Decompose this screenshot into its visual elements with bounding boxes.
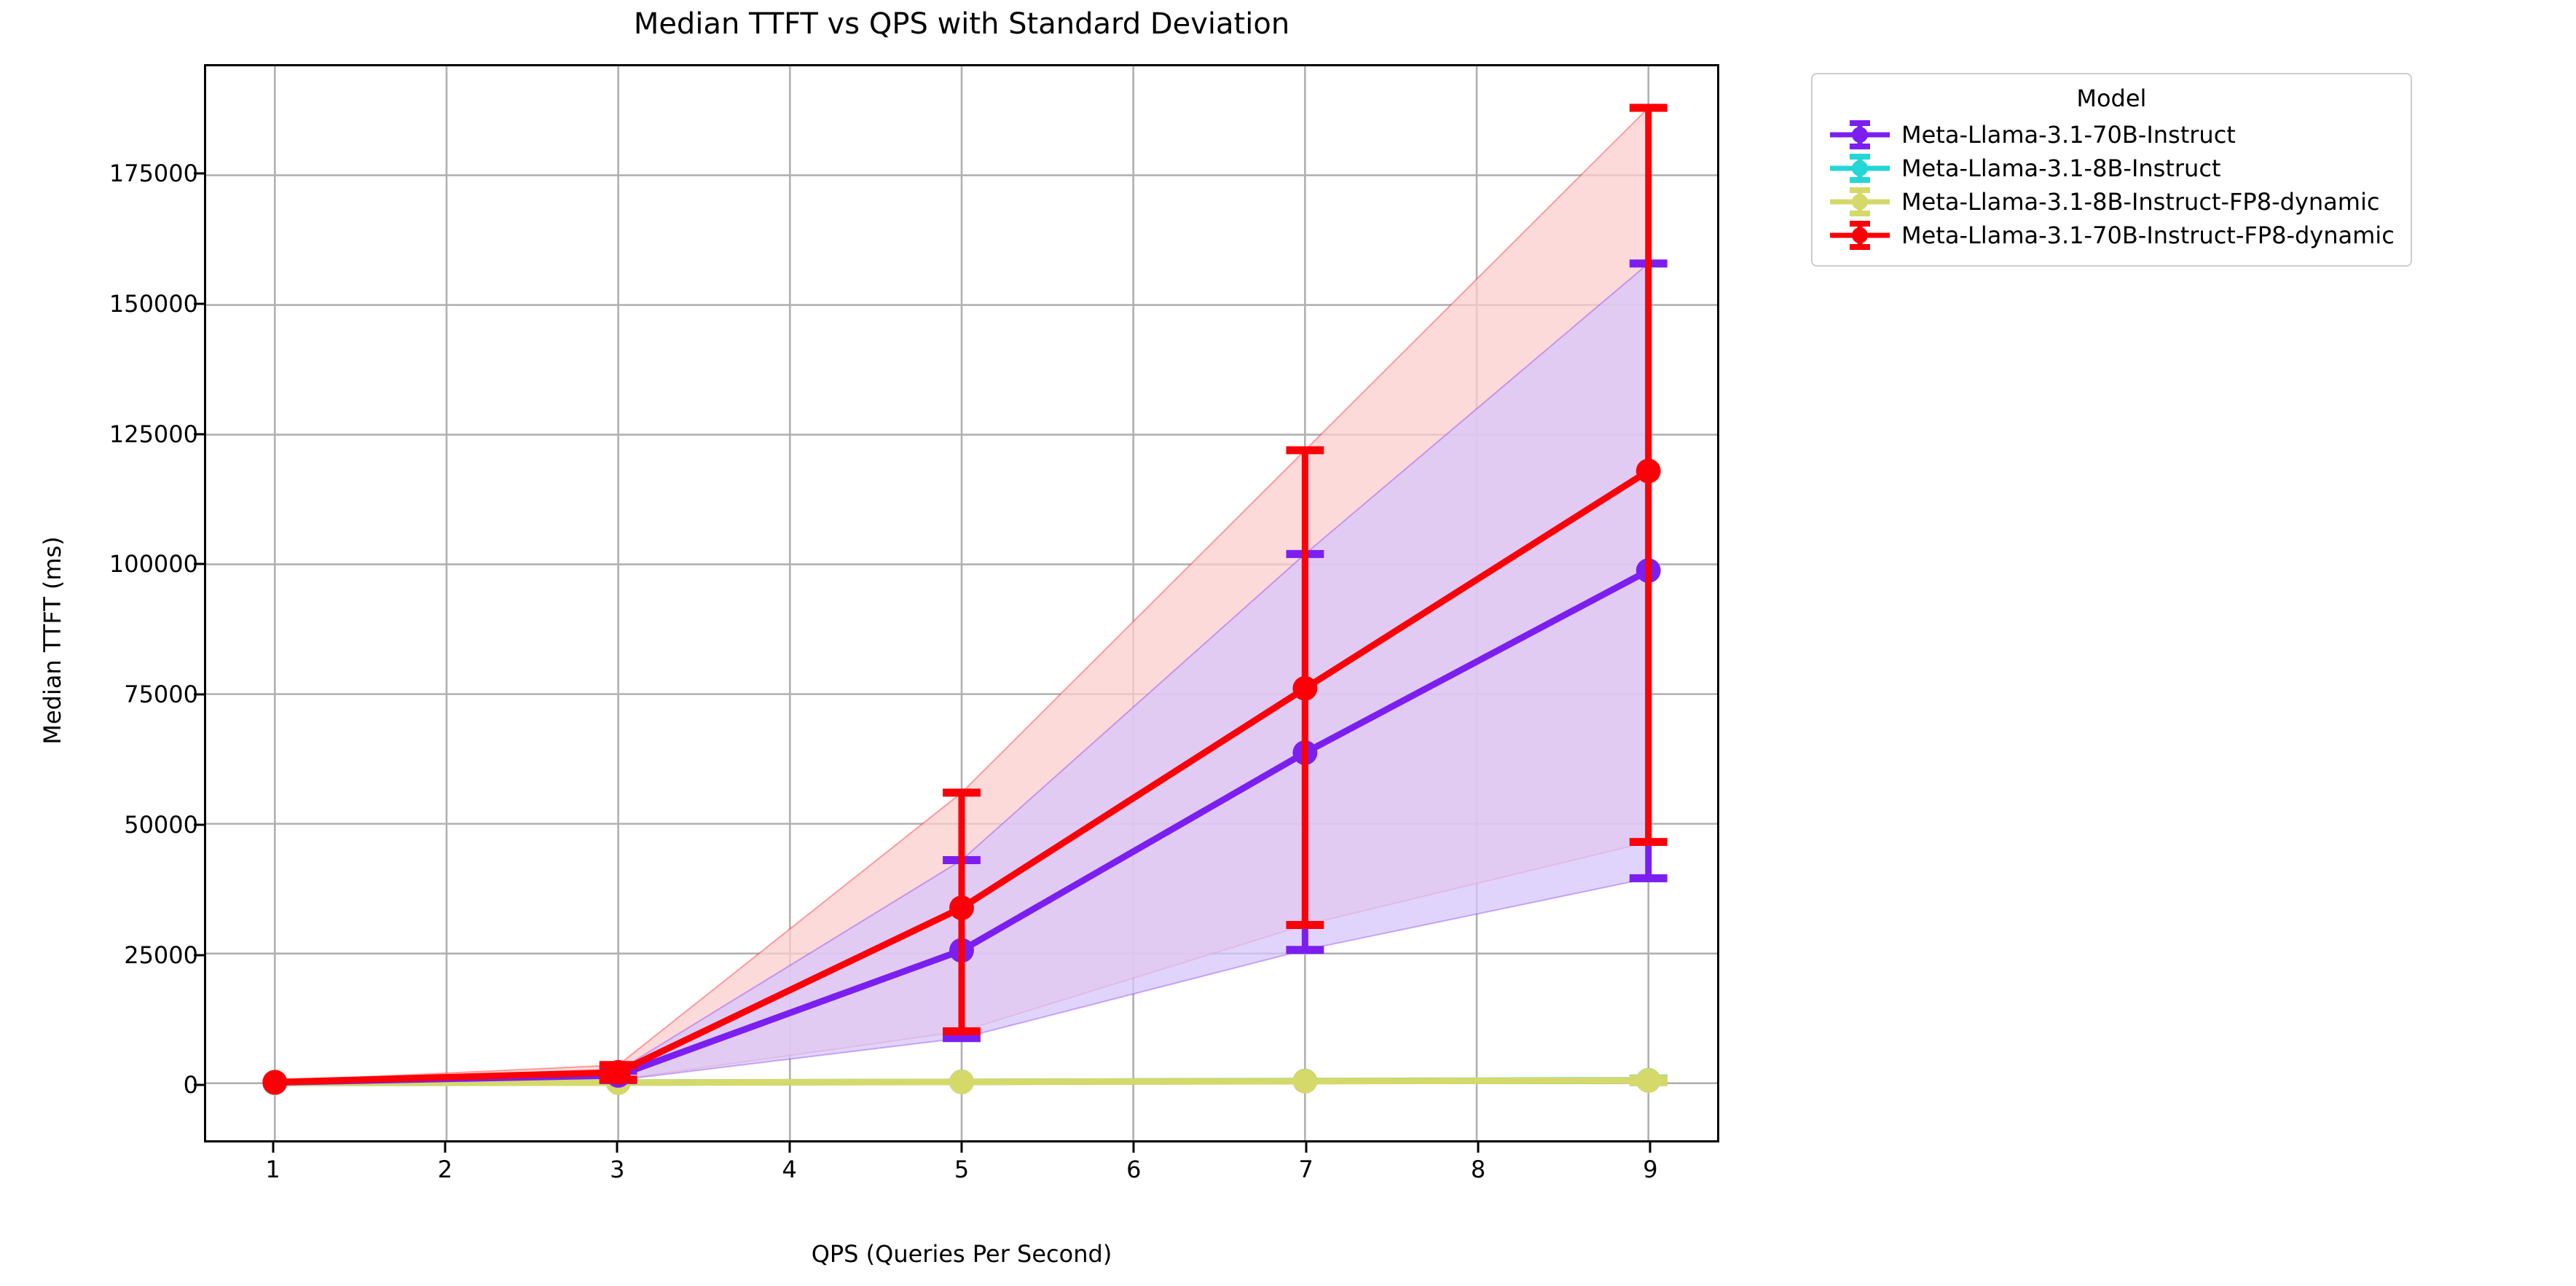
data-point-marker[interactable]: [1292, 676, 1317, 701]
chart-title: Median TTFT vs QPS with Standard Deviati…: [204, 7, 1719, 41]
data-point-marker[interactable]: [949, 895, 974, 920]
legend-item[interactable]: Meta-Llama-3.1-70B-Instruct-FP8-dynamic: [1829, 219, 2395, 252]
legend-title: Model: [1829, 85, 2395, 112]
y-axis-tick-label: 125000: [109, 420, 198, 448]
legend-item[interactable]: Meta-Llama-3.1-8B-Instruct: [1829, 152, 2395, 185]
y-axis-tick-mark: [194, 302, 204, 305]
y-axis-tick-mark: [194, 954, 204, 956]
x-axis-tick-label: 7: [1299, 1156, 1313, 1183]
y-axis-tick-mark: [194, 1084, 204, 1086]
legend-item-label: Meta-Llama-3.1-8B-Instruct: [1901, 154, 2220, 182]
legend-swatch-icon: [1829, 152, 1891, 184]
x-axis-tick-label: 6: [1126, 1156, 1141, 1183]
data-point-marker[interactable]: [606, 1060, 631, 1085]
x-axis-tick-label: 5: [954, 1156, 969, 1183]
y-axis-tick-mark: [194, 433, 204, 435]
data-point-marker[interactable]: [1636, 458, 1661, 483]
legend-item-label: Meta-Llama-3.1-70B-Instruct-FP8-dynamic: [1901, 221, 2395, 249]
data-point-marker[interactable]: [1636, 1068, 1661, 1093]
x-axis-tick-label: 3: [610, 1156, 624, 1183]
y-axis-tick-mark: [194, 173, 204, 175]
x-axis-tick-label: 2: [438, 1156, 452, 1183]
legend-item-label: Meta-Llama-3.1-8B-Instruct-FP8-dynamic: [1901, 188, 2379, 216]
legend: Model Meta-Llama-3.1-70B-InstructMeta-Ll…: [1811, 73, 2412, 267]
x-axis-tick-label: 4: [782, 1156, 796, 1183]
legend-item[interactable]: Meta-Llama-3.1-70B-Instruct: [1829, 118, 2395, 152]
legend-swatch-icon: [1829, 186, 1891, 218]
legend-swatch-icon: [1829, 219, 1891, 251]
data-point-marker[interactable]: [949, 1070, 974, 1094]
chart-figure: Median TTFT vs QPS with Standard Deviati…: [0, 0, 2576, 1286]
legend-item-label: Meta-Llama-3.1-70B-Instruct: [1901, 121, 2236, 149]
x-axis-tick-mark: [444, 1142, 446, 1153]
y-axis-tick-label: 100000: [109, 550, 198, 578]
plot-svg: [206, 66, 1717, 1140]
y-axis-tick-label: 50000: [124, 811, 198, 839]
y-axis-tick-label: 75000: [124, 681, 198, 708]
plot-area: [204, 64, 1719, 1142]
x-axis-tick-mark: [788, 1142, 790, 1153]
y-axis-label: Median TTFT (ms): [39, 385, 66, 895]
x-axis-tick-mark: [616, 1142, 619, 1153]
x-axis-tick-mark: [961, 1142, 963, 1153]
x-axis-tick-mark: [1649, 1142, 1652, 1153]
legend-items: Meta-Llama-3.1-70B-InstructMeta-Llama-3.…: [1829, 118, 2395, 252]
x-axis-tick-label: 9: [1643, 1156, 1657, 1183]
y-axis-tick-mark: [194, 563, 204, 565]
legend-item[interactable]: Meta-Llama-3.1-8B-Instruct-FP8-dynamic: [1829, 185, 2395, 219]
x-axis-tick-mark: [1477, 1142, 1480, 1153]
y-axis-tick-mark: [194, 694, 204, 696]
data-point-marker[interactable]: [262, 1070, 287, 1094]
y-axis-tick-label: 25000: [124, 941, 198, 969]
x-axis-tick-label: 8: [1471, 1156, 1485, 1183]
y-axis-tick-mark: [194, 823, 204, 826]
x-axis-tick-mark: [1305, 1142, 1307, 1153]
y-axis-tick-label: 150000: [109, 290, 198, 318]
x-axis-tick-mark: [272, 1142, 274, 1153]
x-axis-tick-label: 1: [265, 1156, 280, 1183]
x-axis-tick-mark: [1133, 1142, 1135, 1153]
y-axis-tick-label: 175000: [109, 160, 198, 187]
x-axis-label: QPS (Queries Per Second): [204, 1240, 1719, 1268]
legend-swatch-icon: [1829, 119, 1891, 151]
data-point-marker[interactable]: [1292, 1069, 1317, 1094]
